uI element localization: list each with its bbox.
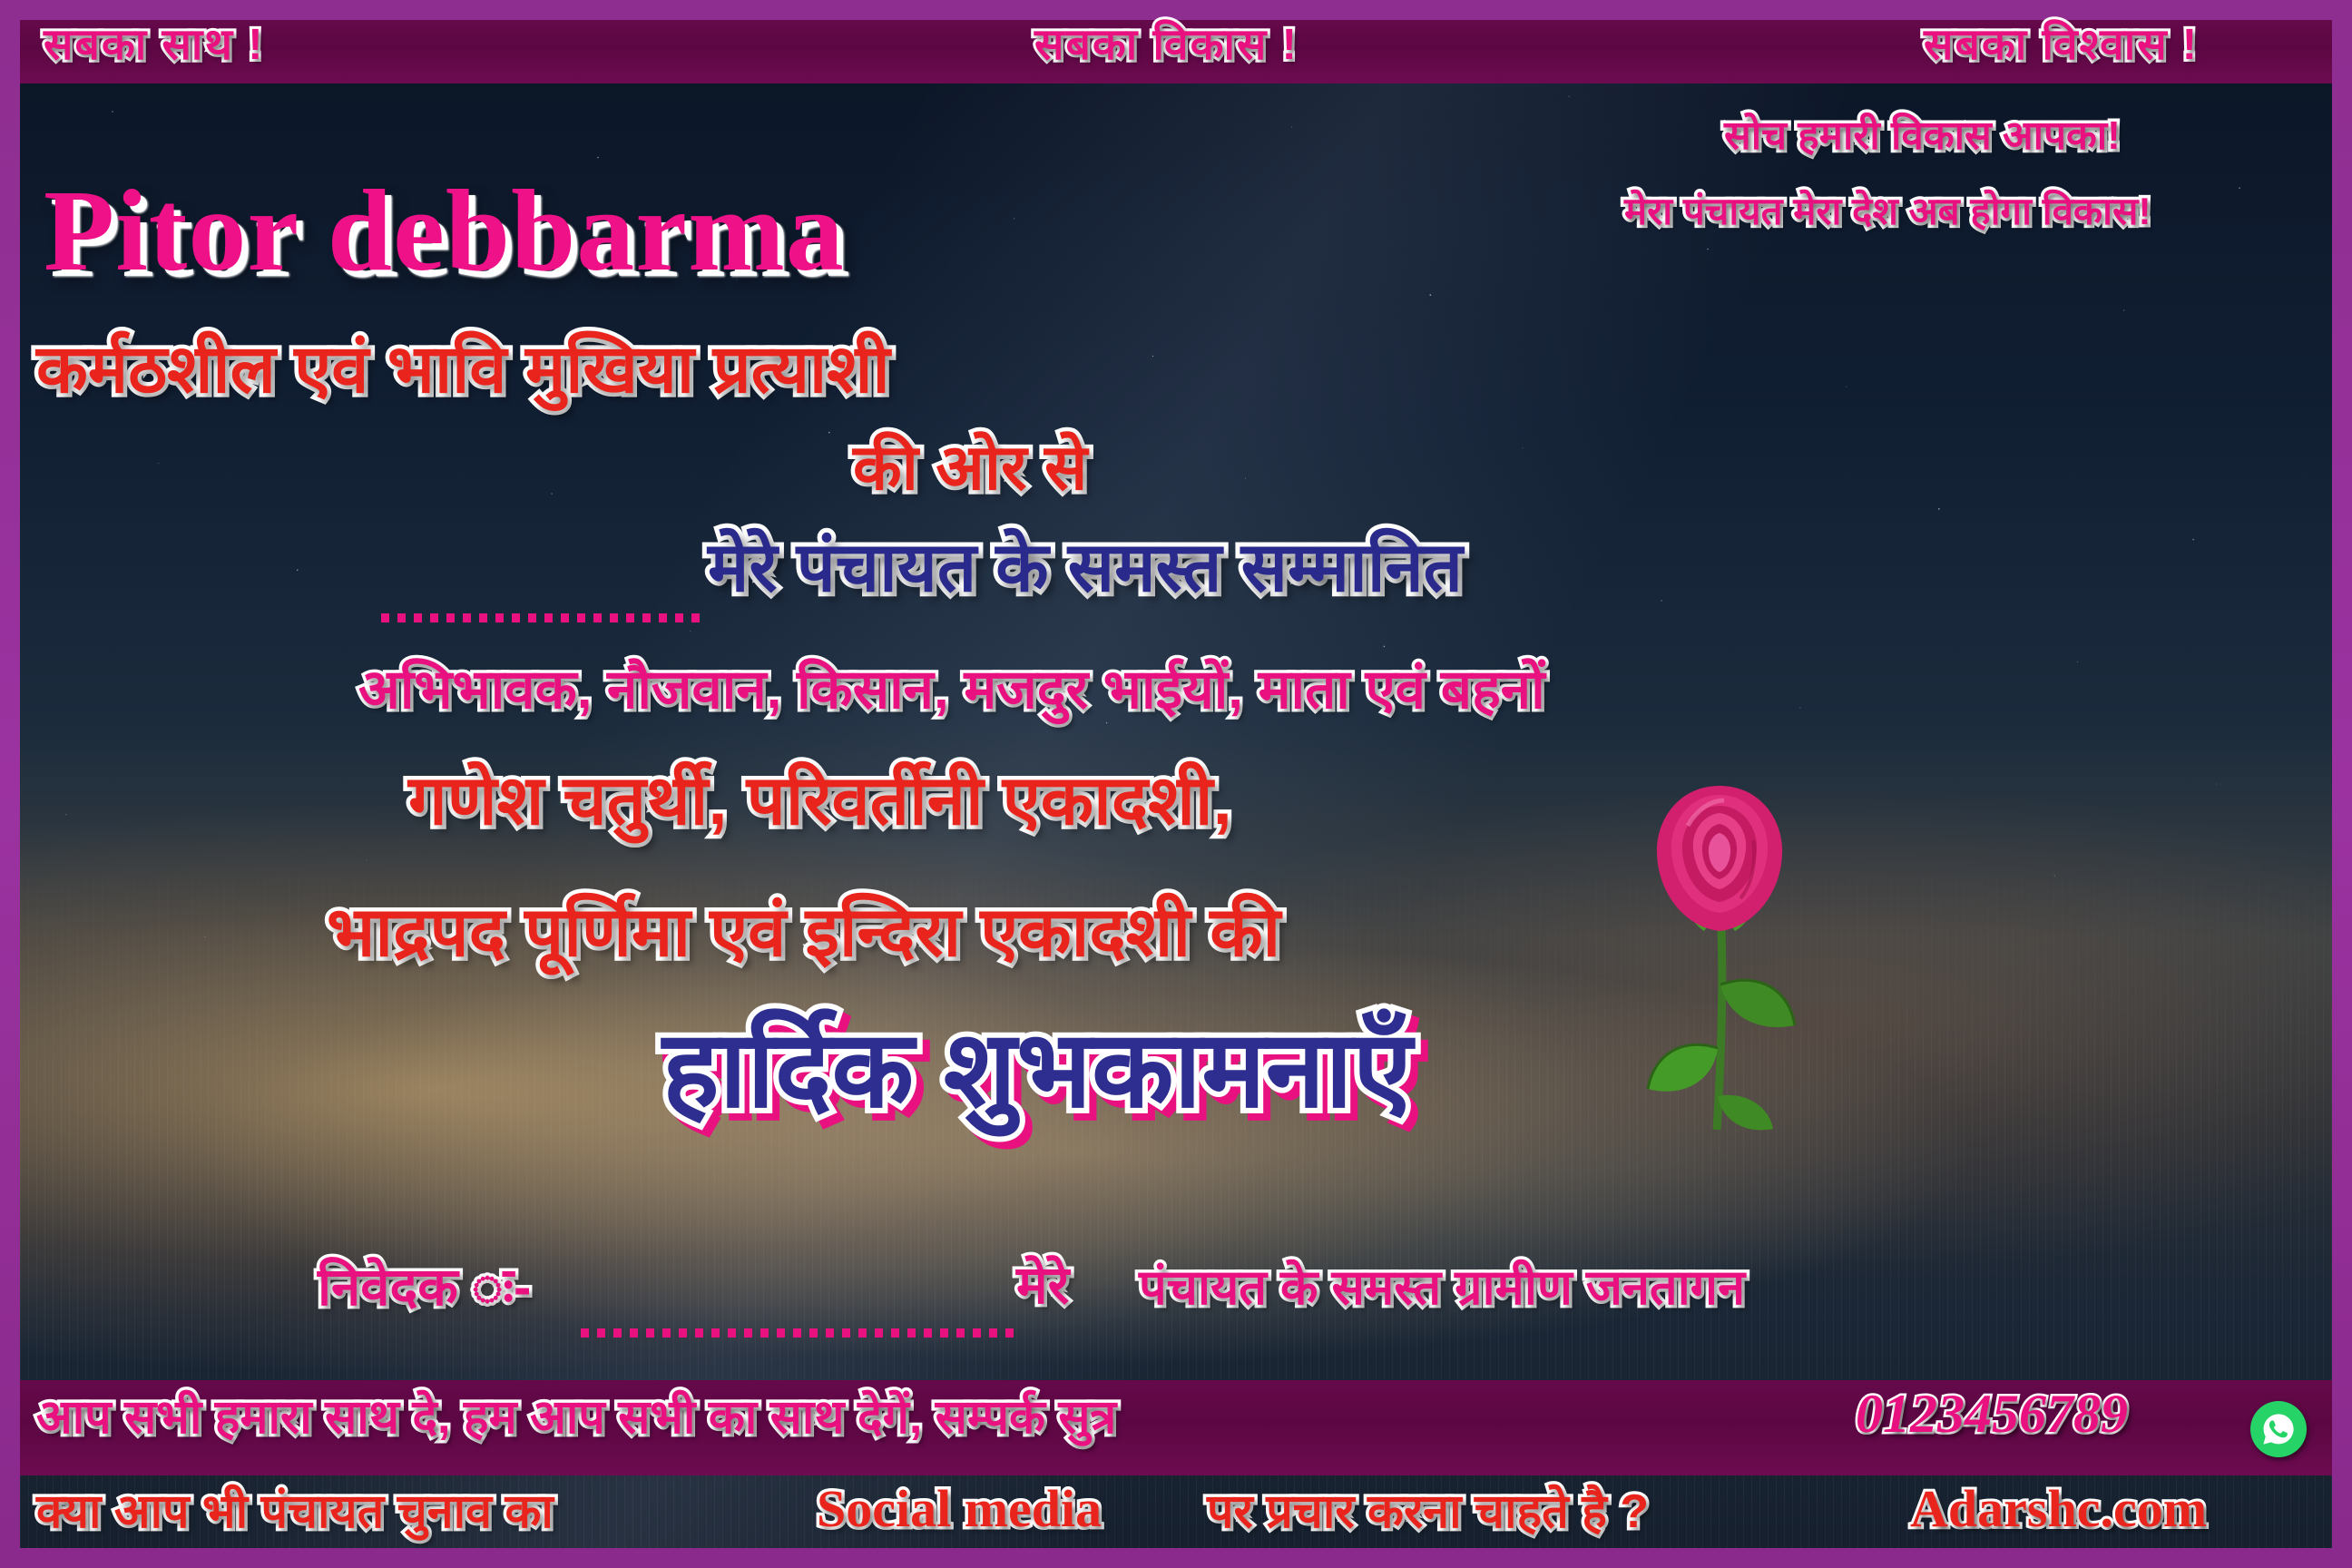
tagline-soch-hamari: सोच हमारी विकास आपका! [1724, 116, 2121, 156]
tagline-mera-panchayat: मेरा पंचायत मेरा देश अब होगा विकास! [1624, 192, 2151, 230]
festival-greeting-poster: सबका साथ ! सबका विकास ! सबका विश्वास ! स… [0, 0, 2352, 1568]
dotted-leader-line-2 [581, 1328, 1016, 1338]
whatsapp-icon[interactable] [2250, 1401, 2307, 1457]
slogan-sabka-vishwas: सबका विश्वास ! [1924, 24, 2199, 67]
greeting-line-2: अभिभावक, नौजवान, किसान, मजदुर भाईयों, मा… [358, 662, 1545, 717]
footer-line-1: आप सभी हमारा साथ दे, हम आप सभी का साथ दे… [36, 1394, 1116, 1441]
footer-line-2-part1: क्या आप भी पंचायत चुनाव का [36, 1488, 554, 1535]
on-behalf-of-text: की ओर से [853, 436, 1087, 499]
dotted-leader-line-1 [381, 613, 708, 622]
greeting-line-4: भाद्रपद पूर्णिमा एवं इन्दिरा एकादशी की [327, 898, 1280, 967]
submitter-value: पंचायत के समस्त ग्रामीण जनतागन [1139, 1263, 1745, 1312]
rose-flower-icon [1633, 753, 1806, 1134]
candidate-designation: कर्मठशील एवं भावि मुखिया प्रत्याशी [36, 336, 890, 403]
submitter-value-prefix: मेरे [1016, 1259, 1069, 1312]
wish-text: हार्दिक शुभकामनाएँ [662, 1016, 1412, 1123]
slogan-sabka-vikas: सबका विकास ! [1034, 24, 1298, 67]
candidate-name: Pitor debbarma [44, 172, 845, 289]
greeting-line-1: मेरे पंचायत के समस्त सम्मानित [708, 534, 1463, 603]
greeting-line-3: गणेश चतुर्थी, परिवर्तीनी एकादशी, [408, 767, 1232, 836]
slogan-sabka-saath: सबका साथ ! [44, 24, 264, 67]
submitter-label: निवेदक ः- [318, 1261, 531, 1314]
footer-phone-number[interactable]: 0123456789 [1856, 1387, 2128, 1441]
footer-line-2-part2: पर प्रचार करना चाहते है ? [1207, 1488, 1649, 1535]
footer-website[interactable]: Adarshc.com [1910, 1483, 2207, 1535]
footer-line-2-latin: Social media [817, 1483, 1102, 1535]
